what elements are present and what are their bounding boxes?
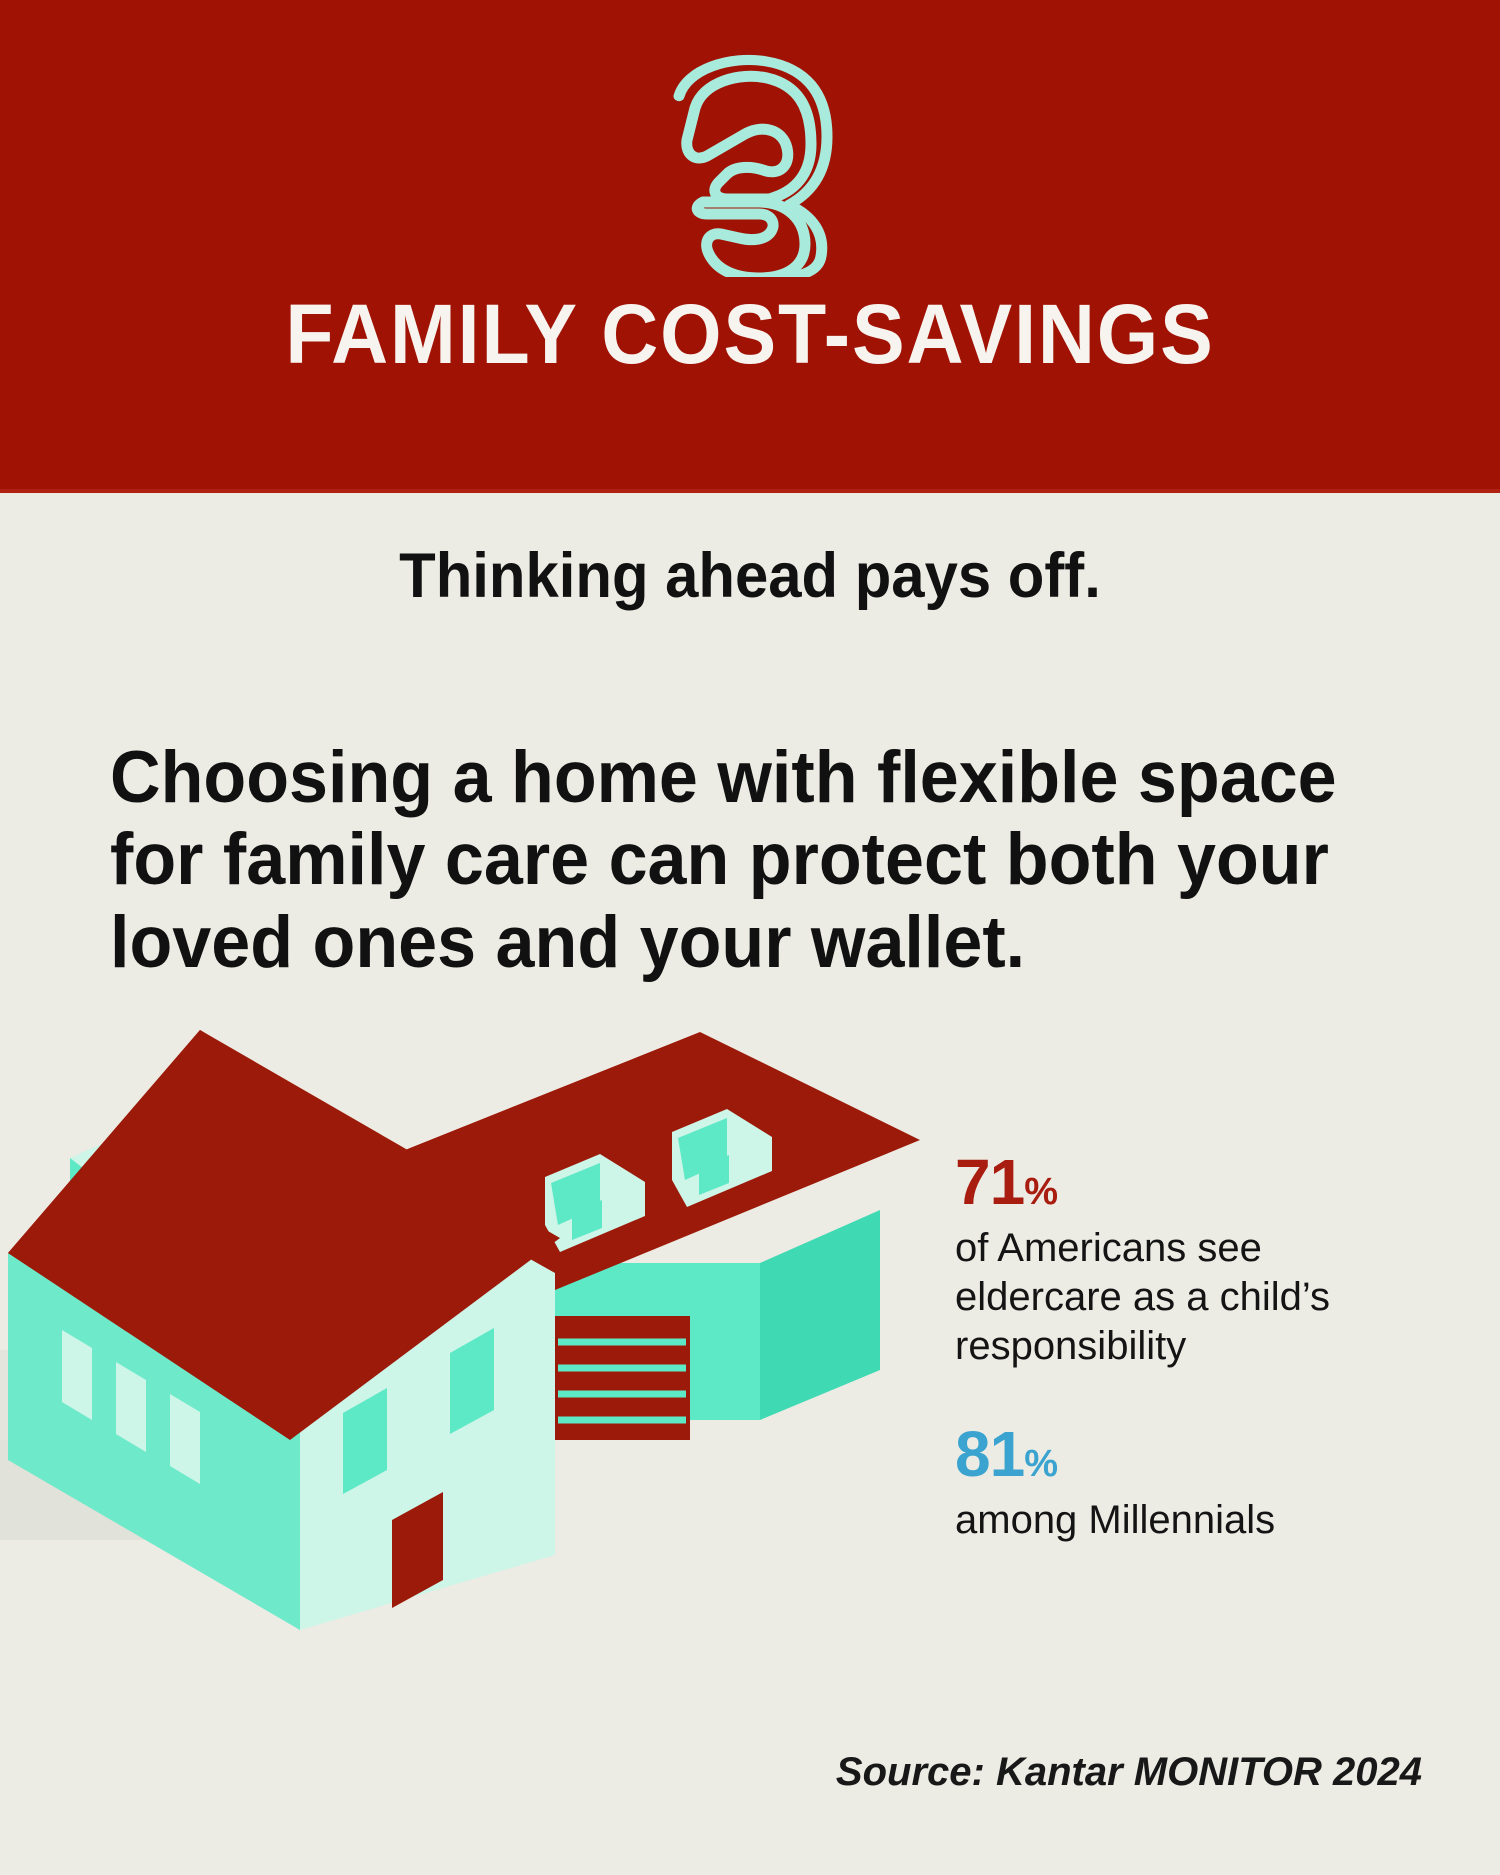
stat-block-americans: 71% of Americans see eldercare as a chil… — [955, 1150, 1435, 1370]
isometric-house-illustration — [0, 1020, 920, 1660]
stat-block-millennials: 81% among Millennials — [955, 1422, 1435, 1545]
caption-line-3: responsibility — [955, 1322, 1435, 1371]
source-attribution: Source: Kantar MONITOR 2024 — [836, 1750, 1422, 1795]
lede-text: Thinking ahead pays off. — [38, 543, 1463, 609]
statistics-panel: 71% of Americans see eldercare as a chil… — [955, 1150, 1435, 1545]
percent-sign: % — [1024, 1443, 1058, 1485]
stat-number: 81 — [955, 1418, 1024, 1490]
header-divider-rule — [0, 489, 1500, 493]
paragraph-line-2: for family care can protect both your — [110, 819, 1358, 901]
paragraph-line-3: loved ones and your wallet. — [110, 902, 1358, 984]
percent-sign: % — [1024, 1171, 1058, 1213]
caption-line-1: of Americans see — [955, 1224, 1435, 1273]
body-paragraph: Choosing a home with flexible space for … — [110, 737, 1358, 984]
paragraph-line-1: Choosing a home with flexible space — [110, 737, 1358, 819]
caption-line-2: eldercare as a child’s — [955, 1273, 1435, 1322]
step-number-3 — [0, 52, 1500, 277]
caption-line-1: among Millennials — [955, 1496, 1435, 1545]
stat-number: 71 — [955, 1146, 1024, 1218]
infographic-poster: FAMILY COST-SAVINGS Thinking ahead pays … — [0, 0, 1500, 1875]
stat-caption-americans: of Americans see eldercare as a child’s … — [955, 1224, 1435, 1370]
stat-value-71: 71% — [955, 1150, 1435, 1214]
stat-caption-millennials: among Millennials — [955, 1496, 1435, 1545]
stat-value-81: 81% — [955, 1422, 1435, 1486]
page-title: FAMILY COST-SAVINGS — [45, 292, 1455, 376]
